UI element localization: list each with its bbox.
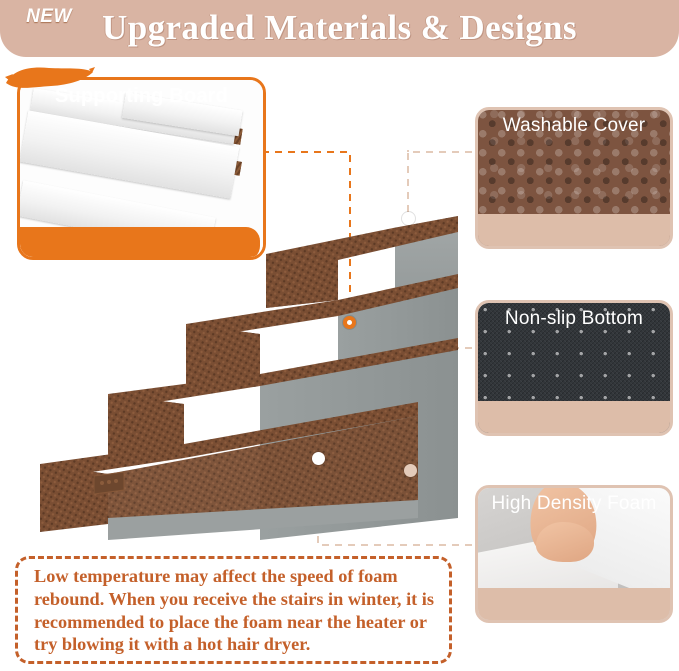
high-density-foam-connector-dot (312, 452, 325, 465)
foam-rebound-note-text: Low temperature may affect the speed of … (34, 565, 434, 656)
supporting-board-label-bar (17, 227, 260, 260)
washable-cover-label-bar (478, 214, 670, 246)
high-density-foam-label-bar (478, 588, 670, 620)
new-badge (3, 63, 95, 97)
washable-cover-connector-dot (402, 212, 415, 225)
foam-rebound-note: Low temperature may affect the speed of … (15, 556, 452, 664)
page-title: Upgraded Materials & Designs (0, 2, 679, 54)
supporting-board-connector-dot (343, 316, 356, 329)
washable-cover-leader-a (408, 150, 472, 152)
brand-tag-icon (94, 472, 124, 494)
non-slip-bottom-label-bar (478, 401, 670, 433)
non-slip-bottom-label: Non-slip Bottom (478, 303, 670, 335)
washable-cover-panel: Washable Cover (475, 107, 673, 249)
washable-cover-label: Washable Cover (478, 110, 670, 142)
non-slip-bottom-panel: Non-slip Bottom (475, 300, 673, 436)
new-badge-label: NEW (14, 3, 84, 31)
high-density-foam-label: High Density Foam (478, 488, 670, 520)
high-density-foam-panel: High Density Foam (475, 485, 673, 623)
supporting-board-panel: Supporting Board (17, 77, 266, 260)
non-slip-bottom-connector-dot (404, 464, 417, 477)
